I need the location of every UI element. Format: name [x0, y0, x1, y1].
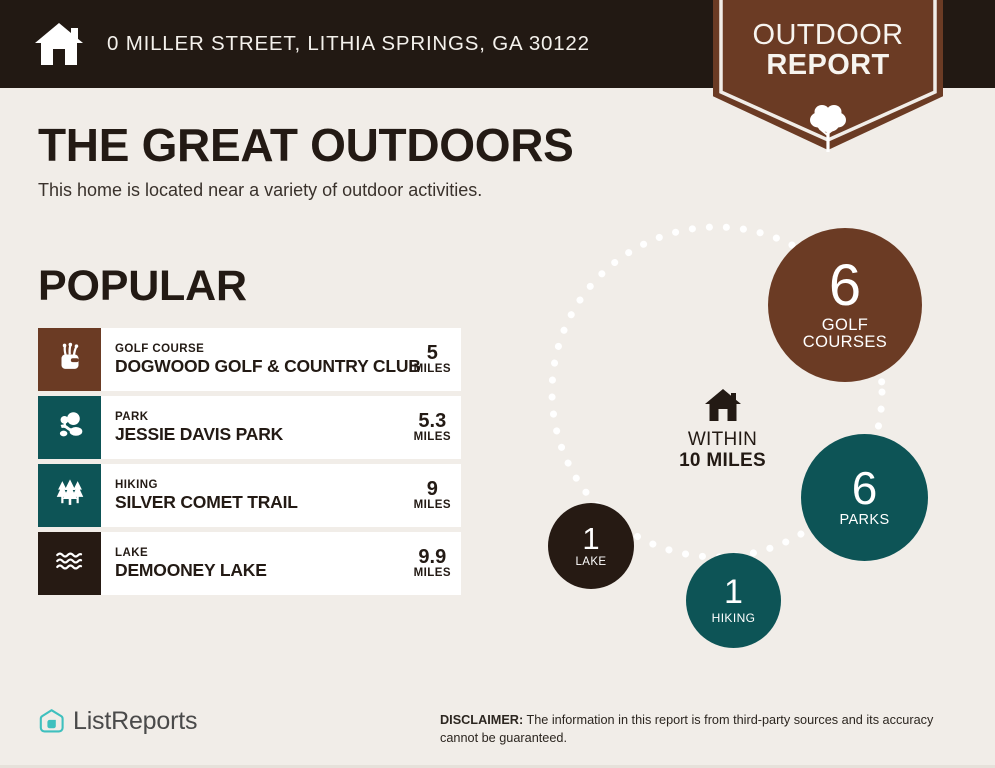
bubble-count: 1	[582, 524, 599, 554]
list-item-body: LAKE DEMOONEY LAKE 9.9 MILES	[101, 532, 461, 595]
list-item-distance-unit: MILES	[414, 568, 451, 580]
bubble-label-line1: GOLF	[822, 316, 869, 334]
page-subtitle: This home is located near a variety of o…	[38, 180, 482, 201]
listreports-logo-text: ListReports	[73, 707, 197, 736]
list-item-body: GOLF COURSE DOGWOOD GOLF & COUNTRY CLUB …	[101, 328, 461, 391]
list-item-distance-unit: MILES	[414, 364, 451, 376]
bubble-count: 6	[829, 258, 861, 315]
tree-icon	[800, 98, 856, 154]
disclaimer: DISCLAIMER: The information in this repo…	[440, 711, 955, 747]
diagram-center-label: WITHIN 10 MILES	[655, 388, 790, 472]
list-item-distance-value: 9	[414, 479, 451, 499]
listreports-logo[interactable]: ListReports	[38, 707, 197, 736]
disclaimer-label: DISCLAIMER:	[440, 713, 523, 727]
bubble-lake[interactable]: 1 LAKE	[548, 503, 634, 589]
bubble-hiking[interactable]: 1 HIKING	[686, 553, 781, 648]
list-item-text: HIKING SILVER COMET TRAIL	[115, 479, 298, 511]
bubble-count: 1	[724, 576, 743, 609]
bubble-label: GOLF COURSES	[803, 317, 887, 352]
list-item-distance: 5 MILES	[408, 343, 451, 375]
bubble-golf-courses[interactable]: 6 GOLF COURSES	[768, 228, 922, 382]
diagram-center-line1: WITHIN	[655, 429, 790, 450]
list-item-text: GOLF COURSE DOGWOOD GOLF & COUNTRY CLUB	[115, 343, 408, 375]
page-title: THE GREAT OUTDOORS	[38, 118, 574, 172]
list-item-distance: 9 MILES	[408, 479, 451, 511]
list-item-name: SILVER COMET TRAIL	[115, 493, 298, 512]
outdoor-report-page: 0 MILLER STREET, LITHIA SPRINGS, GA 3012…	[0, 0, 995, 768]
bubble-label-line2: COURSES	[803, 333, 887, 351]
home-icon	[704, 388, 742, 422]
list-item-distance-value: 9.9	[414, 547, 451, 567]
pine-trees-icon	[53, 476, 87, 515]
list-item[interactable]: GOLF COURSE DOGWOOD GOLF & COUNTRY CLUB …	[38, 328, 461, 391]
home-icon	[33, 21, 85, 67]
list-item-category: GOLF COURSE	[115, 343, 408, 355]
section-title-popular: POPULAR	[38, 262, 247, 311]
bubble-label: PARKS	[839, 513, 889, 528]
property-address: 0 MILLER STREET, LITHIA SPRINGS, GA 3012…	[107, 32, 590, 56]
list-item[interactable]: LAKE DEMOONEY LAKE 9.9 MILES	[38, 532, 461, 595]
list-item-name: DOGWOOD GOLF & COUNTRY CLUB	[115, 357, 408, 376]
badge-title-line1: OUTDOOR	[713, 20, 943, 50]
popular-list: GOLF COURSE DOGWOOD GOLF & COUNTRY CLUB …	[38, 328, 461, 600]
list-item-name: DEMOONEY LAKE	[115, 561, 267, 580]
water-waves-icon	[53, 544, 87, 583]
list-item-category: HIKING	[115, 479, 298, 491]
list-item-body: PARK JESSIE DAVIS PARK 5.3 MILES	[101, 396, 461, 459]
list-item-body: HIKING SILVER COMET TRAIL 9 MILES	[101, 464, 461, 527]
listreports-logo-icon	[38, 708, 65, 735]
list-item-tile	[38, 328, 101, 391]
list-item-distance-unit: MILES	[414, 432, 451, 444]
diagram-center-line2: 10 MILES	[655, 450, 790, 471]
list-item[interactable]: PARK JESSIE DAVIS PARK 5.3 MILES	[38, 396, 461, 459]
list-item-name: JESSIE DAVIS PARK	[115, 425, 283, 444]
bubble-parks[interactable]: 6 PARKS	[801, 434, 928, 561]
bubble-label: HIKING	[712, 612, 756, 625]
bubble-label: LAKE	[575, 556, 606, 568]
list-item-text: LAKE DEMOONEY LAKE	[115, 547, 267, 579]
golf-bag-icon	[53, 340, 87, 379]
badge-title-line2: REPORT	[713, 50, 943, 80]
park-icon	[53, 408, 87, 447]
list-item-distance-value: 5.3	[414, 411, 451, 431]
list-item-tile	[38, 532, 101, 595]
list-item-distance-value: 5	[414, 343, 451, 363]
list-item-distance: 9.9 MILES	[408, 547, 451, 579]
list-item-distance-unit: MILES	[414, 500, 451, 512]
list-item-tile	[38, 396, 101, 459]
list-item-category: PARK	[115, 411, 283, 423]
list-item-tile	[38, 464, 101, 527]
list-item[interactable]: HIKING SILVER COMET TRAIL 9 MILES	[38, 464, 461, 527]
list-item-text: PARK JESSIE DAVIS PARK	[115, 411, 283, 443]
bubble-count: 6	[852, 466, 878, 511]
list-item-distance: 5.3 MILES	[408, 411, 451, 443]
badge-title: OUTDOOR REPORT	[713, 20, 943, 80]
list-item-category: LAKE	[115, 547, 267, 559]
